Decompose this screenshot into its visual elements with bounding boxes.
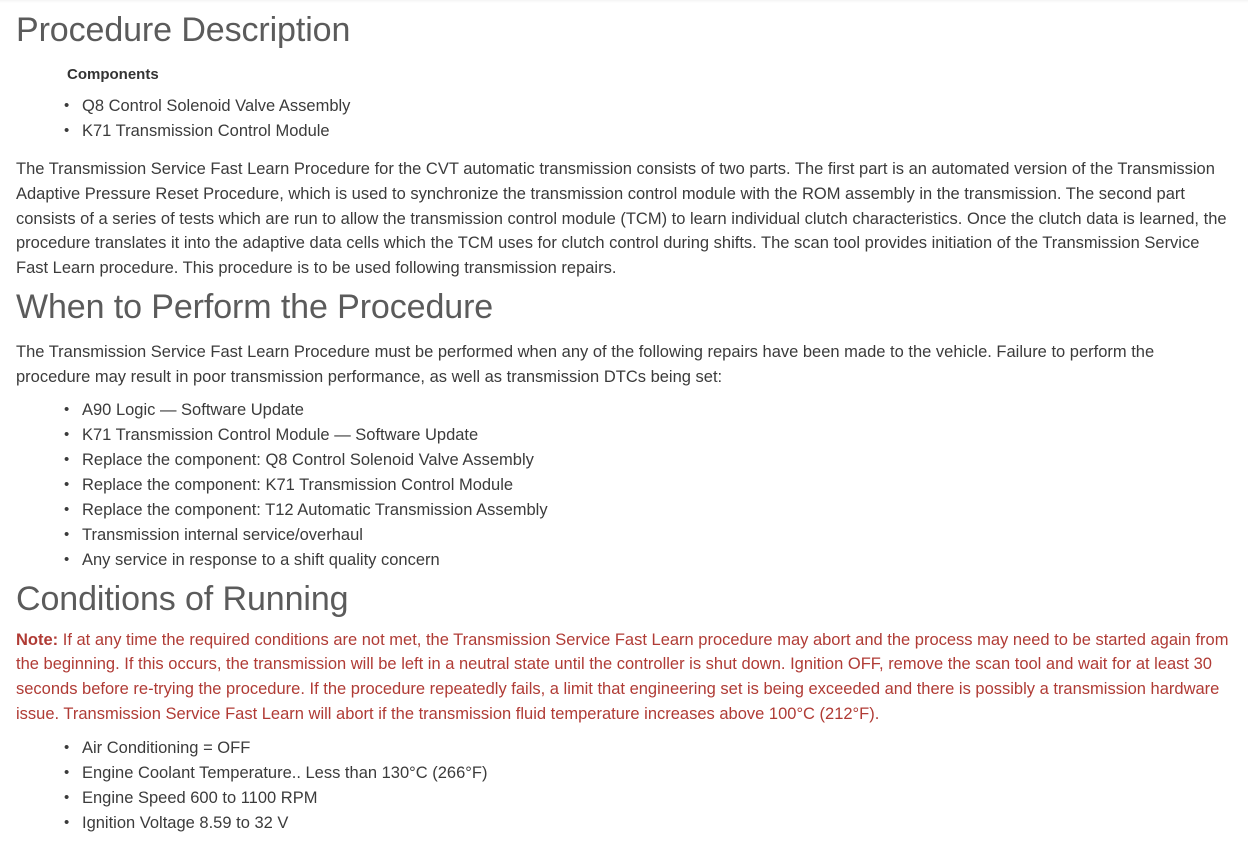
list-item: K71 Transmission Control Module — Softwa… bbox=[64, 423, 1232, 448]
list-item: Replace the component: K71 Transmission … bbox=[64, 473, 1232, 498]
list-item: Replace the component: T12 Automatic Tra… bbox=[64, 498, 1232, 523]
list-item: Air Conditioning = OFF bbox=[64, 736, 1232, 761]
components-subheading: Components bbox=[67, 65, 1232, 85]
list-item: Transmission internal service/overhaul bbox=[64, 523, 1232, 548]
note-body: If at any time the required conditions a… bbox=[16, 631, 1228, 723]
section-when-to-perform: When to Perform the Procedure The Transm… bbox=[16, 281, 1232, 573]
components-list: Q8 Control Solenoid Valve Assembly K71 T… bbox=[16, 94, 1232, 144]
when-to-perform-heading: When to Perform the Procedure bbox=[16, 281, 1232, 327]
section-procedure-description: Procedure Description Components Q8 Cont… bbox=[16, 3, 1232, 281]
list-item: Replace the component: Q8 Control Soleno… bbox=[64, 448, 1232, 473]
section-conditions-of-running: Conditions of Running Note: If at any ti… bbox=[16, 573, 1232, 836]
conditions-of-running-heading: Conditions of Running bbox=[16, 573, 1232, 619]
list-item: A90 Logic — Software Update bbox=[64, 398, 1232, 423]
when-to-perform-paragraph: The Transmission Service Fast Learn Proc… bbox=[16, 340, 1232, 390]
when-to-perform-list: A90 Logic — Software Update K71 Transmis… bbox=[16, 398, 1232, 573]
conditions-list: Air Conditioning = OFF Engine Coolant Te… bbox=[16, 736, 1232, 836]
note-paragraph: Note: If at any time the required condit… bbox=[16, 628, 1232, 727]
list-item: Any service in response to a shift quali… bbox=[64, 548, 1232, 573]
document-body: Procedure Description Components Q8 Cont… bbox=[0, 3, 1248, 836]
list-item: Engine Speed 600 to 1100 RPM bbox=[64, 786, 1232, 811]
list-item: Ignition Voltage 8.59 to 32 V bbox=[64, 811, 1232, 836]
list-item: Engine Coolant Temperature.. Less than 1… bbox=[64, 761, 1232, 786]
list-item: Q8 Control Solenoid Valve Assembly bbox=[64, 94, 1232, 119]
list-item: K71 Transmission Control Module bbox=[64, 119, 1232, 144]
note-label: Note: bbox=[16, 631, 58, 649]
procedure-description-paragraph: The Transmission Service Fast Learn Proc… bbox=[16, 157, 1232, 281]
page-title: Procedure Description bbox=[16, 3, 1232, 50]
